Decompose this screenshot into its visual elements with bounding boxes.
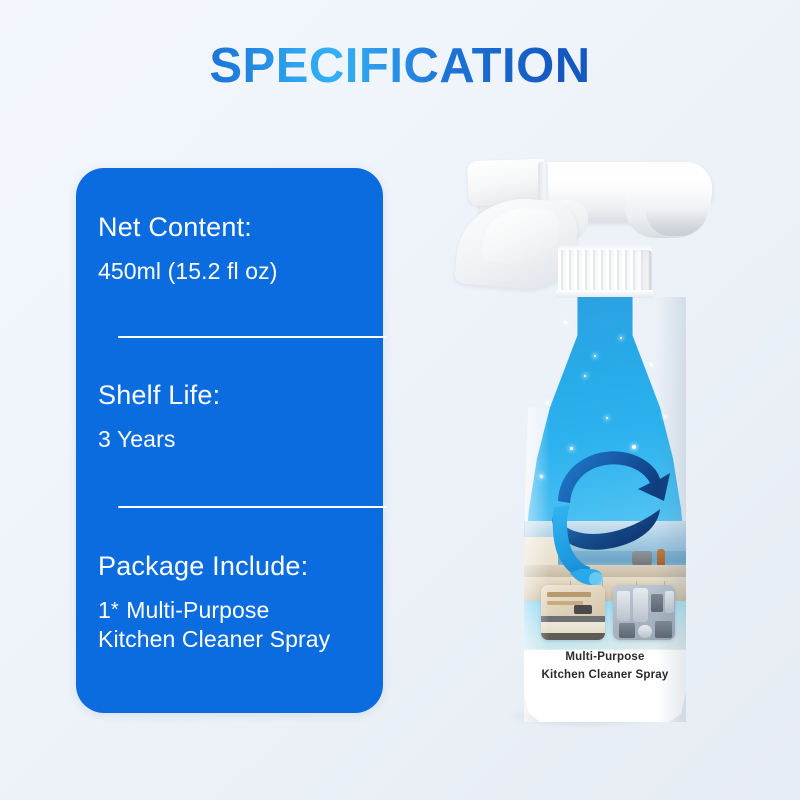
bottle-product-name: Multi-Purpose Kitchen Cleaner Spray <box>524 649 686 685</box>
specification-page: SPECIFICATION Net Content: 450ml (15.2 f… <box>0 0 800 800</box>
appliance-icon <box>655 621 672 638</box>
sparkle <box>546 401 549 404</box>
asterisk-icon: * <box>111 599 120 621</box>
bottle-name-line1: Multi-Purpose <box>565 651 644 663</box>
floor <box>541 633 605 640</box>
page-title: SPECIFICATION <box>0 38 800 94</box>
range-hood-icon <box>574 605 592 614</box>
sparkle <box>594 355 596 357</box>
swoosh-arrow-icon <box>524 417 686 592</box>
bottle-name-line2: Kitchen Cleaner Spray <box>542 669 669 681</box>
spec-item-net-content: Net Content: 450ml (15.2 fl oz) <box>98 213 365 286</box>
sparkle <box>584 375 586 377</box>
spec-item-shelf-life: Shelf Life: 3 Years <box>98 381 365 454</box>
appliance-icon <box>651 594 663 612</box>
thumbnail-kitchen-interior <box>541 585 605 640</box>
spec-label-package-include: Package Include: <box>98 552 365 582</box>
product-image: Multi-Purpose Kitchen Cleaner Spray <box>440 150 730 750</box>
sparkle <box>620 337 622 339</box>
divider-2 <box>118 506 387 508</box>
divider-1 <box>118 336 387 338</box>
appliance-icon <box>633 588 648 622</box>
package-item-line2: Kitchen Cleaner Spray <box>98 626 330 652</box>
specification-panel: Net Content: 450ml (15.2 fl oz) Shelf Li… <box>76 168 383 713</box>
appliance-icon <box>617 591 630 621</box>
appliance-icon <box>638 625 652 638</box>
spec-value-shelf-life: 3 Years <box>98 425 365 454</box>
appliance-icon <box>619 623 635 638</box>
sparkle <box>650 363 653 366</box>
shelf <box>547 592 591 597</box>
appliance-icon <box>665 591 674 613</box>
package-item-line1: Multi-Purpose <box>120 597 270 623</box>
spec-label-shelf-life: Shelf Life: <box>98 381 365 411</box>
package-qty: 1 <box>98 597 111 623</box>
bottle-body: Multi-Purpose Kitchen Cleaner Spray <box>524 297 686 722</box>
spec-item-package-include: Package Include: 1* Multi-Purpose Kitche… <box>98 552 365 655</box>
spec-label-net-content: Net Content: <box>98 213 365 243</box>
spec-value-package-include: 1* Multi-Purpose Kitchen Cleaner Spray <box>98 596 365 655</box>
sparkle <box>564 321 567 324</box>
spec-value-net-content: 450ml (15.2 fl oz) <box>98 257 365 286</box>
thumbnail-appliances <box>613 585 675 640</box>
